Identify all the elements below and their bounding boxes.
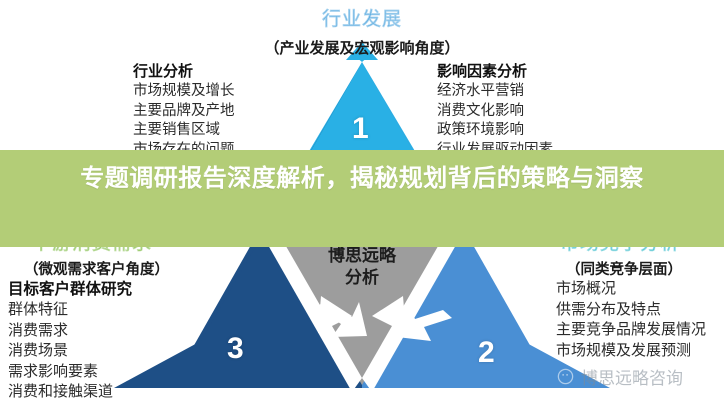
list-item: 消费和接触渠道 bbox=[8, 382, 169, 400]
center-label-line2: 分析 bbox=[289, 267, 435, 289]
segment-number-3: 3 bbox=[227, 332, 244, 366]
center-label-line1: 博思远略 bbox=[289, 245, 435, 267]
panel-industry-analysis: 行业分析 市场规模及增长 主要品牌及产地 主要销售区域 市场存在的问题 bbox=[133, 62, 235, 160]
watermark-text: 博思远略咨询 bbox=[581, 364, 683, 389]
list-item: 需求影响要素 bbox=[8, 362, 169, 383]
list-item: 供需分布及特点 bbox=[556, 300, 706, 321]
panel-factors-heading: 影响因素分析 bbox=[437, 62, 553, 82]
segment-number-1: 1 bbox=[352, 112, 369, 146]
list-item: 主要竞争品牌发展情况 bbox=[556, 320, 706, 341]
list-item: 市场规模及发展预测 bbox=[556, 341, 706, 362]
wechat-icon bbox=[556, 367, 575, 386]
top-header-title: 行业发展 bbox=[0, 4, 724, 31]
list-item: 群体特征 bbox=[8, 300, 169, 321]
list-item: 市场概况 bbox=[556, 279, 706, 300]
list-item: 主要品牌及产地 bbox=[133, 102, 235, 122]
diagram-top-header: 行业发展 （产业发展及宏观影响角度） bbox=[0, 4, 724, 58]
panel-demand-subtitle: （微观需求客户角度） bbox=[24, 258, 169, 279]
list-item: 消费需求 bbox=[8, 321, 169, 342]
slide-canvas: 1 3 2 博思远略 分析 行业发展 （产业发展及宏观影响角度） 行业分析 市场… bbox=[0, 0, 724, 400]
panel-demand-heading: 目标客户群体研究 bbox=[8, 279, 169, 300]
panel-market-competition: 市场竞争分析 （同类竞争层面） 市场概况 供需分布及特点 主要竞争品牌发展情况 … bbox=[556, 228, 706, 361]
watermark: 博思远略咨询 bbox=[556, 364, 683, 389]
list-item: 政策环境影响 bbox=[437, 121, 553, 141]
list-item: 市场规模及增长 bbox=[133, 82, 235, 102]
diagram-center-label: 博思远略 分析 bbox=[289, 245, 435, 289]
list-item: 消费文化影响 bbox=[437, 102, 553, 122]
panel-industry-heading: 行业分析 bbox=[133, 62, 235, 82]
panel-influence-factors: 影响因素分析 经济水平营销 消费文化影响 政策环境影响 行业发展驱动因素 bbox=[437, 62, 553, 160]
segment-number-2: 2 bbox=[478, 336, 495, 370]
panel-compete-subtitle: （同类竞争层面） bbox=[566, 258, 706, 279]
list-item: 消费场景 bbox=[8, 341, 169, 362]
list-item: 经济水平营销 bbox=[437, 82, 553, 102]
panel-downstream-demand: 下游消费需求 （微观需求客户角度） 目标客户群体研究 群体特征 消费需求 消费场… bbox=[8, 228, 169, 400]
overlay-headline: 专题调研报告深度解析，揭秘规划背后的策略与洞察 bbox=[0, 160, 724, 197]
list-item: 主要销售区域 bbox=[133, 121, 235, 141]
top-header-subtitle: （产业发展及宏观影响角度） bbox=[0, 37, 724, 58]
